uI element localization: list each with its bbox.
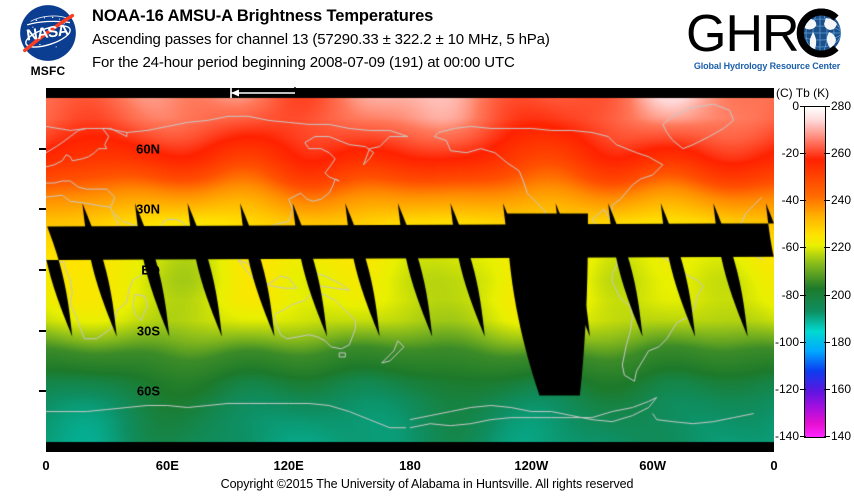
colorbar-tick-celsius: -60 [782, 240, 806, 254]
ghrc-wordmark-icon: GHR [684, 6, 850, 62]
colorbar-gradient [804, 106, 826, 438]
x-tick-label: 120E [273, 458, 303, 473]
colorbar-tick-celsius: -80 [782, 288, 806, 302]
y-tick-mark [39, 208, 46, 210]
y-tick-mark [39, 269, 46, 271]
nasa-center-label: MSFC [14, 64, 82, 78]
y-tick-label: 30S [137, 323, 160, 338]
ghrc-subtitle: Global Hydrology Resource Center [684, 61, 850, 71]
x-tick-label: 60W [639, 458, 666, 473]
colorbar-tick-kelvin: 260 [824, 146, 851, 160]
colorbar-tick-kelvin: 200 [824, 288, 851, 302]
colorbar: (C) Tb (K) 280260240220200180160140 0-20… [776, 86, 854, 456]
y-tick-label: 60N [136, 141, 160, 156]
nasa-meatball-icon: NASA [19, 4, 77, 62]
x-tick-label: 180 [399, 458, 421, 473]
x-tick-label: 0 [770, 458, 777, 473]
y-tick-label: 60S [137, 384, 160, 399]
svg-text:GHR: GHR [686, 6, 799, 62]
latitude-axis: 60N30NEQ30S60S [0, 88, 854, 452]
colorbar-tick-celsius: -120 [775, 382, 806, 396]
colorbar-tick-kelvin: 280 [824, 99, 851, 113]
colorbar-tick-kelvin: 140 [824, 429, 851, 443]
x-tick-label: 60E [156, 458, 179, 473]
colorbar-tick-celsius: -20 [782, 146, 806, 160]
colorbar-header: (C) Tb (K) [776, 86, 854, 100]
colorbar-tick-celsius: -140 [775, 429, 806, 443]
longitude-axis: 060E120E180120W60W0 [0, 452, 854, 478]
y-tick-mark [39, 330, 46, 332]
colorbar-tick-celsius: -40 [782, 193, 806, 207]
subtitle-channel: Ascending passes for channel 13 (57290.3… [92, 28, 672, 51]
x-tick-label: 120W [514, 458, 548, 473]
y-tick-mark [39, 390, 46, 392]
subtitle-period: For the 24-hour period beginning 2008-07… [92, 51, 672, 74]
page-title: NOAA-16 AMSU-A Brightness Temperatures [92, 5, 672, 28]
y-tick-mark [39, 148, 46, 150]
y-tick-label: 30N [136, 202, 160, 217]
header: NASA MSFC NOAA-16 AMSU-A Brightness Temp… [0, 0, 854, 90]
title-block: NOAA-16 AMSU-A Brightness Temperatures A… [92, 5, 672, 74]
colorbar-tick-kelvin: 240 [824, 193, 851, 207]
nasa-logo: NASA MSFC [14, 4, 82, 90]
colorbar-tick-kelvin: 180 [824, 335, 851, 349]
x-tick-label: 0 [42, 458, 49, 473]
colorbar-tick-kelvin: 220 [824, 240, 851, 254]
colorbar-tick-celsius: 0 [792, 99, 806, 113]
colorbar-tick-kelvin: 160 [824, 382, 851, 396]
y-tick-label: EQ [141, 263, 160, 278]
colorbar-tick-celsius: -100 [775, 335, 806, 349]
copyright-notice: Copyright ©2015 The University of Alabam… [0, 477, 854, 491]
ghrc-logo: GHR Global Hydrology Resource Center [684, 6, 850, 82]
